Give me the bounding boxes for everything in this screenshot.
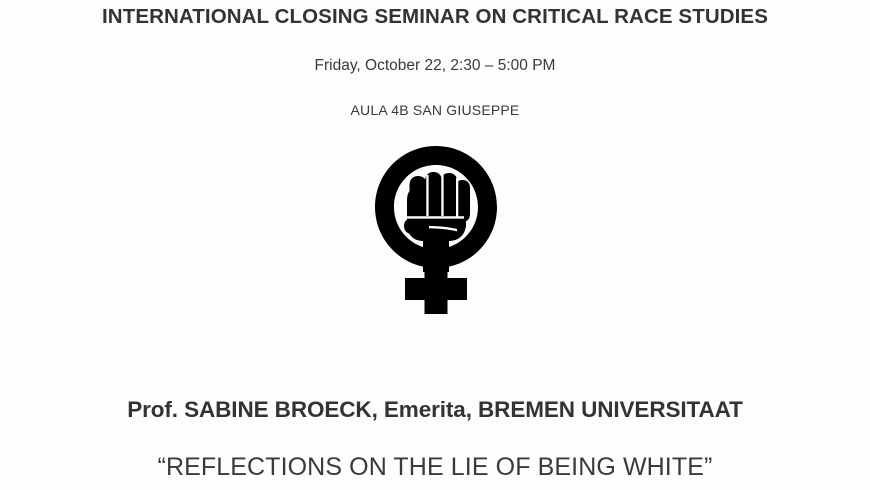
page-title: INTERNATIONAL CLOSING SEMINAR ON CRITICA… xyxy=(0,4,870,30)
seminar-datetime: Friday, October 22, 2:30 – 5:00 PM xyxy=(0,55,870,77)
seminar-venue: AULA 4B SAN GIUSEPPE xyxy=(0,100,870,120)
feminist-fist-icon xyxy=(371,142,501,314)
talk-title: “REFLECTIONS ON THE LIE OF BEING WHITE” xyxy=(0,450,870,484)
speaker-name: Prof. SABINE BROECK, Emerita, BREMEN UNI… xyxy=(0,395,870,425)
seminar-announcement-slide: INTERNATIONAL CLOSING SEMINAR ON CRITICA… xyxy=(0,0,870,490)
